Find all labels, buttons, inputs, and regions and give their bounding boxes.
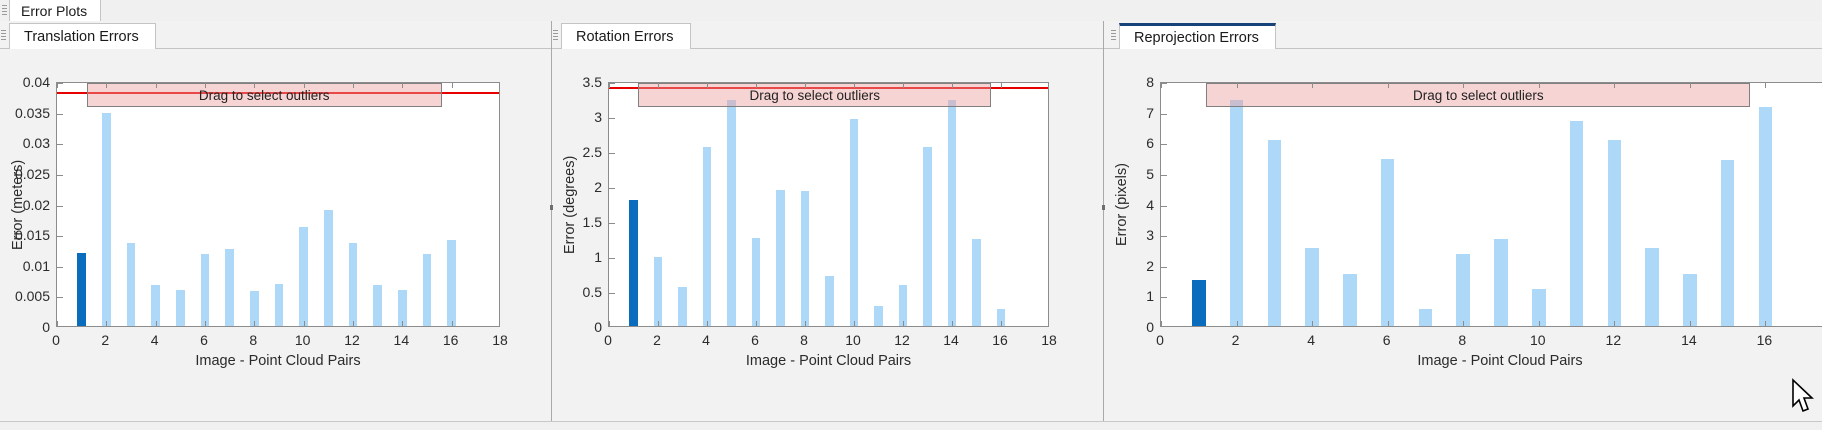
x-axis-tick-label: 12 (1606, 332, 1622, 348)
y-axis-tick-label: 4 (1108, 197, 1154, 213)
pane-tabstrip: Rotation Errors (552, 21, 1103, 49)
bar[interactable] (127, 243, 136, 326)
y-axis-tick (57, 175, 63, 176)
x-axis-tick (1539, 83, 1540, 88)
x-axis-tick-label: 8 (800, 332, 808, 348)
bar[interactable] (874, 306, 883, 326)
y-axis-tick-label: 0.03 (4, 135, 50, 151)
drag-to-select-outliers-band[interactable]: Drag to select outliers (1206, 83, 1750, 107)
chart-pane-2: Reprojection ErrorsError (pixels)Drag to… (1104, 21, 1822, 430)
x-axis-tick (1312, 321, 1313, 326)
y-axis-tick (1161, 175, 1167, 176)
outer-tabstrip: Error Plots (0, 0, 1822, 22)
x-axis-tick (304, 83, 305, 88)
x-axis-tick (903, 321, 904, 326)
y-axis-tick-label: 8 (1108, 74, 1154, 90)
y-axis-tick-label: 3.5 (556, 74, 602, 90)
x-axis-tick-label: 6 (751, 332, 759, 348)
y-axis-tick-label: 0.5 (556, 284, 602, 300)
x-axis-tick (402, 321, 403, 326)
x-axis-tick-label: 8 (1458, 332, 1466, 348)
y-axis-tick-label: 0 (4, 319, 50, 335)
y-axis-tick-label: 0.01 (4, 258, 50, 274)
bar[interactable] (1721, 160, 1735, 326)
x-axis-tick-label: 8 (249, 332, 257, 348)
x-axis-tick (1765, 321, 1766, 326)
x-axis-tick-label: 12 (344, 332, 360, 348)
splitter-right[interactable] (1103, 21, 1104, 430)
drag-to-select-outliers-band[interactable]: Drag to select outliers (87, 83, 442, 107)
y-axis-tick-label: 2.5 (556, 144, 602, 160)
x-axis-tick (1690, 83, 1691, 88)
splitter-left[interactable] (551, 21, 552, 430)
y-axis-tick (1161, 297, 1167, 298)
bar[interactable] (825, 276, 834, 326)
x-axis-tick (805, 83, 806, 88)
x-axis-tick-label: 2 (1232, 332, 1240, 348)
x-axis-tick (658, 321, 659, 326)
y-axis-tick-label: 5 (1108, 166, 1154, 182)
drag-grip-icon[interactable] (1111, 30, 1116, 41)
pane-tabstrip: Reprojection Errors (1104, 21, 1822, 49)
bar[interactable] (1381, 159, 1395, 326)
x-axis-tick-label: 18 (1041, 332, 1057, 348)
bar[interactable] (923, 147, 932, 326)
x-axis-tick-label: 12 (894, 332, 910, 348)
chart-pane-0: Translation ErrorsError (meters)Drag to … (0, 21, 551, 430)
bar[interactable] (1456, 254, 1470, 326)
tab-error-plots[interactable]: Error Plots (9, 0, 101, 21)
x-axis-tick (57, 321, 58, 326)
x-axis-tick (756, 83, 757, 88)
bar[interactable] (1268, 140, 1282, 327)
x-axis-tick-label: 14 (1681, 332, 1697, 348)
x-axis-tick (952, 321, 953, 326)
x-axis-tick-label: 2 (101, 332, 109, 348)
drag-grip-icon[interactable] (2, 5, 7, 16)
pane-tab-label: Rotation Errors (576, 29, 674, 45)
x-axis-tick (353, 83, 354, 88)
x-axis-tick-label: 4 (702, 332, 710, 348)
pane-tabstrip: Translation Errors (0, 21, 551, 49)
bar[interactable] (1230, 100, 1244, 326)
bar[interactable] (972, 239, 981, 327)
y-axis-tick-label: 3 (1108, 227, 1154, 243)
x-axis-tick (1388, 321, 1389, 326)
bar[interactable] (629, 200, 638, 326)
bar[interactable] (1343, 274, 1357, 326)
y-axis-tick (1161, 236, 1167, 237)
y-axis-tick (609, 223, 615, 224)
x-axis-tick-label: 0 (52, 332, 60, 348)
x-axis-tick-label: 16 (443, 332, 459, 348)
bottom-status-strip (0, 421, 1822, 430)
x-axis-tick (1161, 321, 1162, 326)
drag-band-label: Drag to select outliers (1413, 88, 1544, 103)
x-axis-tick-label: 0 (1156, 332, 1164, 348)
tab-error-plots-label: Error Plots (21, 3, 87, 19)
x-axis-tick (254, 83, 255, 88)
bar[interactable] (447, 240, 456, 326)
x-axis-label: Image - Point Cloud Pairs (1417, 353, 1582, 369)
bar[interactable] (1645, 248, 1659, 326)
x-axis-tick-label: 0 (604, 332, 612, 348)
y-axis-tick-label: 0.02 (4, 197, 50, 213)
x-axis-tick (254, 321, 255, 326)
bar[interactable] (703, 147, 712, 326)
x-axis-tick (1237, 321, 1238, 326)
x-axis-tick-label: 6 (1383, 332, 1391, 348)
x-axis-tick-label: 4 (151, 332, 159, 348)
y-axis-tick-label: 0 (1108, 319, 1154, 335)
bar[interactable] (225, 249, 234, 326)
bar[interactable] (349, 243, 358, 326)
x-axis-tick-label: 14 (943, 332, 959, 348)
bar[interactable] (324, 210, 333, 326)
bar[interactable] (752, 238, 761, 326)
y-axis-tick (1161, 144, 1167, 145)
x-axis-tick (452, 83, 453, 88)
y-axis-tick (609, 293, 615, 294)
bar[interactable] (1570, 121, 1584, 326)
x-axis-tick (707, 321, 708, 326)
y-axis-tick-label: 1 (1108, 288, 1154, 304)
error-plots-window: Error Plots Translation ErrorsError (met… (0, 0, 1822, 430)
pane-tab-label: Translation Errors (24, 29, 139, 45)
x-axis-tick-label: 10 (845, 332, 861, 348)
x-axis-tick-label: 6 (200, 332, 208, 348)
x-axis-tick (156, 321, 157, 326)
y-axis-tick-label: 0.015 (4, 227, 50, 243)
x-axis-tick-label: 16 (1757, 332, 1773, 348)
drag-band-label: Drag to select outliers (199, 88, 330, 103)
y-axis-tick-label: 0.04 (4, 74, 50, 90)
x-axis-tick (1539, 321, 1540, 326)
x-axis-tick (1614, 83, 1615, 88)
x-axis-tick (756, 321, 757, 326)
x-axis-tick (304, 321, 305, 326)
bar[interactable] (801, 191, 810, 326)
pane-tab-label: Reprojection Errors (1134, 30, 1259, 46)
x-axis-tick (1388, 83, 1389, 88)
bar[interactable] (201, 254, 210, 326)
bar[interactable] (948, 100, 957, 326)
bar[interactable] (776, 190, 785, 327)
bar[interactable] (1683, 274, 1697, 326)
bar[interactable] (275, 284, 284, 326)
y-axis-tick-label: 6 (1108, 135, 1154, 151)
drag-grip-icon[interactable] (553, 30, 558, 41)
x-axis-tick (707, 83, 708, 88)
x-axis-tick (854, 83, 855, 88)
y-axis-tick (57, 267, 63, 268)
x-axis-tick (1614, 321, 1615, 326)
bar[interactable] (77, 253, 86, 327)
bar[interactable] (1305, 248, 1319, 326)
x-axis-tick (353, 321, 354, 326)
x-axis-tick (1237, 83, 1238, 88)
y-axis-tick (1161, 83, 1167, 84)
x-axis-tick (1463, 83, 1464, 88)
x-axis-tick (805, 321, 806, 326)
bar[interactable] (1494, 239, 1508, 326)
bar[interactable] (1419, 309, 1433, 326)
x-axis-tick-label: 14 (394, 332, 410, 348)
x-axis-tick-label: 16 (992, 332, 1008, 348)
x-axis-tick (1312, 83, 1313, 88)
x-axis-tick (1690, 321, 1691, 326)
bar[interactable] (727, 100, 736, 326)
x-axis-tick (1001, 83, 1002, 88)
y-axis-tick (57, 83, 63, 84)
chart-pane-1: Rotation ErrorsError (degrees)Drag to se… (552, 21, 1103, 430)
y-axis-tick (57, 297, 63, 298)
y-axis-tick-label: 0.005 (4, 288, 50, 304)
y-axis-tick (57, 236, 63, 237)
y-axis-tick (609, 153, 615, 154)
plot-area[interactable]: Drag to select outliers (1160, 82, 1822, 327)
plot-area[interactable]: Drag to select outliers (56, 82, 500, 327)
x-axis-tick (205, 321, 206, 326)
drag-to-select-outliers-band[interactable]: Drag to select outliers (638, 83, 991, 107)
y-axis-tick (57, 144, 63, 145)
y-axis-tick-label: 1.5 (556, 214, 602, 230)
x-axis-tick (1765, 83, 1766, 88)
x-axis-tick (156, 83, 157, 88)
x-axis-tick-label: 10 (1530, 332, 1546, 348)
bar[interactable] (299, 227, 308, 326)
y-axis-tick (57, 114, 63, 115)
y-axis-tick (1161, 206, 1167, 207)
y-axis-tick (609, 83, 615, 84)
tab-translation-errors[interactable]: Translation Errors (9, 23, 156, 49)
x-axis-tick (952, 83, 953, 88)
bar[interactable] (1759, 107, 1773, 326)
x-axis-tick-label: 10 (295, 332, 311, 348)
y-axis-tick-label: 3 (556, 109, 602, 125)
y-axis-tick-label: 1 (556, 249, 602, 265)
x-axis-tick (609, 321, 610, 326)
x-axis-label: Image - Point Cloud Pairs (195, 353, 360, 369)
bar[interactable] (373, 285, 382, 326)
y-axis-tick (57, 206, 63, 207)
splitter-handle-icon (550, 205, 553, 210)
bar[interactable] (654, 257, 663, 326)
tab-rotation-errors[interactable]: Rotation Errors (561, 23, 691, 49)
y-axis-tick-label: 0 (556, 319, 602, 335)
x-axis-tick-label: 4 (1307, 332, 1315, 348)
bar[interactable] (678, 287, 687, 326)
drag-band-label: Drag to select outliers (750, 88, 881, 103)
x-axis-tick (452, 321, 453, 326)
y-axis-tick-label: 2 (556, 179, 602, 195)
bar[interactable] (1192, 280, 1206, 326)
bar[interactable] (899, 285, 908, 326)
x-axis-tick (1001, 321, 1002, 326)
bar[interactable] (423, 254, 432, 326)
plot-area[interactable]: Drag to select outliers (608, 82, 1049, 327)
y-axis-tick (1161, 267, 1167, 268)
tab-reprojection-errors[interactable]: Reprojection Errors (1119, 23, 1276, 49)
splitter-handle-icon (1102, 205, 1105, 210)
bar[interactable] (151, 285, 160, 326)
y-axis-tick-label: 0.035 (4, 105, 50, 121)
x-axis-tick-label: 2 (653, 332, 661, 348)
bar[interactable] (850, 119, 859, 326)
y-axis-tick (609, 258, 615, 259)
y-axis-tick-label: 7 (1108, 105, 1154, 121)
bar[interactable] (176, 290, 185, 326)
x-axis-tick (402, 83, 403, 88)
x-axis-tick (1463, 321, 1464, 326)
x-axis-label: Image - Point Cloud Pairs (746, 353, 911, 369)
x-axis-tick (854, 321, 855, 326)
x-axis-tick (903, 83, 904, 88)
x-axis-tick (658, 83, 659, 88)
y-axis-tick (1161, 114, 1167, 115)
y-axis-tick-label: 2 (1108, 258, 1154, 274)
x-axis-tick (106, 83, 107, 88)
bar[interactable] (102, 113, 111, 326)
drag-grip-icon[interactable] (1, 30, 6, 41)
y-axis-tick (609, 188, 615, 189)
y-axis-tick (609, 118, 615, 119)
x-axis-tick (205, 83, 206, 88)
x-axis-tick (106, 321, 107, 326)
y-axis-tick-label: 0.025 (4, 166, 50, 182)
x-axis-tick-label: 18 (492, 332, 508, 348)
bar[interactable] (1608, 140, 1622, 326)
